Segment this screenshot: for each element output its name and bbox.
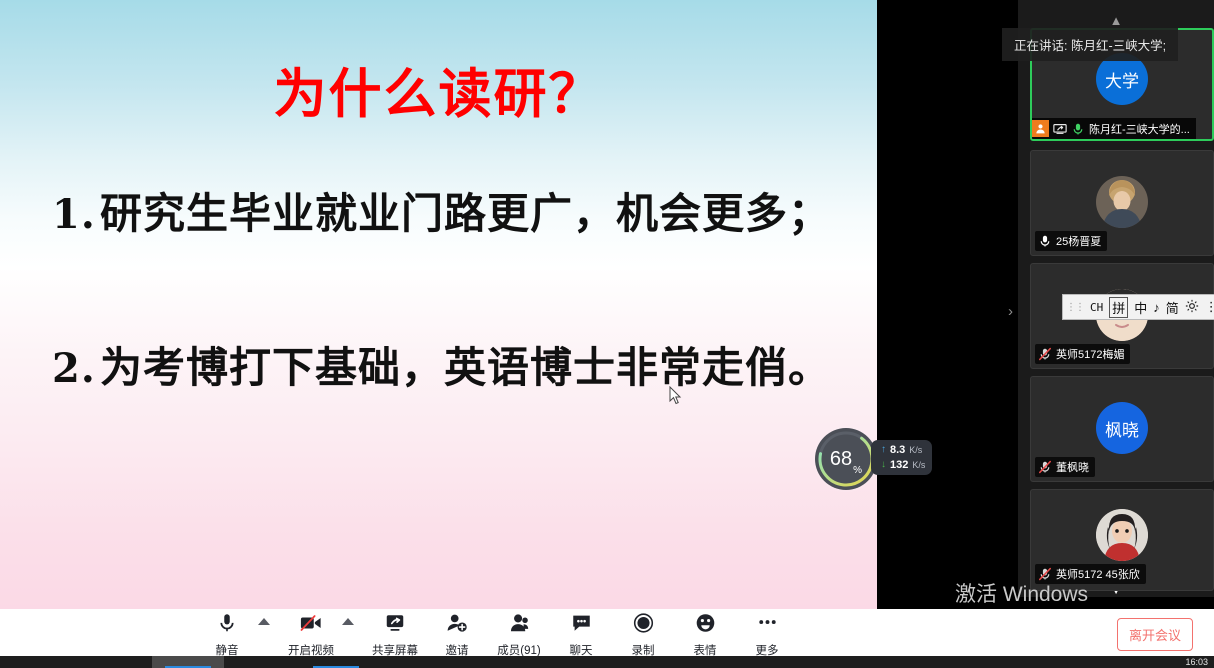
microphone-icon — [1038, 234, 1052, 248]
ime-overflow-icon[interactable]: ⋮ — [1205, 299, 1214, 315]
taskbar-app-2[interactable] — [300, 656, 372, 668]
download-arrow-icon: ↓ — [881, 460, 886, 470]
taskbar-clock[interactable]: 16:03 — [1185, 657, 1208, 667]
upload-unit: K/s — [909, 445, 922, 455]
ime-drag-handle[interactable]: ⋮⋮ — [1066, 302, 1084, 313]
avatar: 枫晓 — [1096, 402, 1148, 454]
share-screen-icon — [383, 612, 407, 639]
network-upload-row: ↑ 8.3 K/s — [881, 444, 925, 456]
microphone-muted-icon — [1038, 347, 1052, 361]
microphone-muted-icon — [1038, 567, 1052, 581]
network-gauge: 68% — [815, 428, 877, 490]
slide-bullet-1: 1.研究生毕业就业门路更广，机会更多； — [52, 180, 847, 241]
slide-bullet-1-number: 1. — [52, 191, 100, 238]
meeting-toolbar-items: 静音 开启视频 共享屏幕 — [196, 607, 798, 658]
ime-tone-icon[interactable]: ♪ — [1153, 300, 1160, 315]
collapse-sidebar-chevron-icon[interactable]: › — [1008, 303, 1013, 320]
network-rates: ↑ 8.3 K/s ↓ 132 K/s — [871, 440, 932, 475]
slide-title: 为什么读研？ — [0, 52, 877, 128]
participant-badge: 英师5172梅媚 — [1035, 344, 1130, 364]
chat-icon — [570, 612, 593, 639]
network-download-row: ↓ 132 K/s — [881, 459, 925, 471]
slide-bullet-1-text: 研究生毕业就业门路更广，机会更多； — [100, 189, 831, 238]
participants-icon — [507, 612, 531, 639]
avatar-photo — [1096, 176, 1148, 228]
leave-meeting-button[interactable]: 离开会议 — [1117, 618, 1193, 651]
participant-badge: 董枫晓 — [1035, 457, 1095, 477]
ime-simplified-toggle[interactable]: 简 — [1166, 298, 1179, 317]
chat-button[interactable]: 聊天 — [550, 607, 612, 658]
record-button[interactable]: 录制 — [612, 607, 674, 658]
avatar — [1096, 176, 1148, 228]
participant-badge: 英师5172 45张欣 — [1035, 564, 1146, 584]
slide-bullet-2: 2.为考博打下基础，英语博士非常走俏。 — [52, 334, 847, 395]
network-percent-value: 68 — [830, 448, 852, 471]
speaking-tooltip: 正在讲话: 陈月红-三峡大学; — [1002, 28, 1178, 61]
microphone-muted-icon — [1038, 460, 1052, 474]
video-options-caret[interactable] — [342, 607, 364, 625]
sidebar-scroll-up-icon[interactable]: ▲ — [1018, 12, 1214, 28]
host-icon — [1032, 120, 1049, 137]
emoji-button[interactable]: 表情 — [674, 607, 736, 658]
download-value: 132 — [890, 459, 908, 471]
participant-badge: 25杨晋夏 — [1035, 231, 1107, 251]
invite-button[interactable]: 邀请 — [426, 607, 488, 658]
participant-name: 英师5172 45张欣 — [1056, 566, 1140, 582]
participant-name: 董枫晓 — [1056, 459, 1089, 475]
mute-options-caret[interactable] — [258, 607, 280, 625]
gear-icon[interactable] — [1185, 299, 1199, 316]
share-screen-button[interactable]: 共享屏幕 — [364, 607, 426, 658]
windows-taskbar: 16:03 — [0, 656, 1214, 668]
screen-root: 为什么读研？ 1.研究生毕业就业门路更广，机会更多； 2.为考博打下基础，英语博… — [0, 0, 1214, 668]
chevron-up-icon — [258, 618, 270, 625]
network-percent: 68% — [815, 428, 877, 490]
participant-tile-3[interactable]: 枫晓 董枫晓 — [1030, 376, 1214, 482]
upload-value: 8.3 — [890, 444, 905, 456]
chevron-up-icon — [342, 618, 354, 625]
emoji-icon — [694, 612, 717, 639]
microphone-icon — [1071, 122, 1085, 136]
participant-badge: 陈月红-三峡大学的... — [1032, 118, 1196, 139]
avatar-initials: 枫晓 — [1105, 415, 1139, 440]
avatar-photo — [1096, 509, 1148, 561]
upload-arrow-icon: ↑ — [881, 445, 886, 455]
more-button[interactable]: 更多 — [736, 607, 798, 658]
participant-name: 25杨晋夏 — [1056, 233, 1101, 249]
ime-chinese-toggle[interactable]: 中 — [1134, 298, 1147, 317]
download-unit: K/s — [912, 460, 925, 470]
taskbar-app-1[interactable] — [152, 656, 224, 668]
avatar — [1096, 509, 1148, 561]
more-icon — [756, 612, 779, 639]
mute-button[interactable]: 静音 — [196, 607, 258, 658]
shared-screen-slide[interactable]: 为什么读研？ 1.研究生毕业就业门路更广，机会更多； 2.为考博打下基础，英语博… — [0, 0, 877, 609]
ime-input-mode[interactable]: 拼 — [1109, 297, 1128, 318]
invite-user-icon — [445, 612, 469, 639]
ime-floating-toolbar[interactable]: ⋮⋮ CH 拼 中 ♪ 简 ⋮ — [1062, 294, 1214, 320]
record-icon — [632, 612, 655, 639]
participants-button[interactable]: 成员(91) — [488, 607, 550, 658]
start-video-button[interactable]: 开启视频 — [280, 607, 342, 658]
ime-language-label[interactable]: CH — [1090, 301, 1103, 314]
video-off-icon — [299, 612, 323, 639]
screen-share-icon — [1053, 122, 1067, 136]
participant-name: 英师5172梅媚 — [1056, 346, 1124, 362]
microphone-icon — [216, 612, 238, 639]
network-speed-widget[interactable]: 68% ↑ 8.3 K/s ↓ 132 K/s — [815, 428, 935, 493]
participant-tile-4[interactable]: 英师5172 45张欣 — [1030, 489, 1214, 591]
participant-tile-1[interactable]: 25杨晋夏 — [1030, 150, 1214, 256]
avatar-initials: 大学 — [1105, 67, 1139, 92]
meeting-toolbar: 静音 开启视频 共享屏幕 — [0, 609, 1214, 656]
slide-bullet-2-number: 2. — [52, 345, 100, 392]
participant-name: 陈月红-三峡大学的... — [1089, 121, 1190, 137]
slide-bullet-2-text: 为考博打下基础，英语博士非常走俏。 — [100, 343, 831, 392]
network-percent-sign: % — [853, 465, 862, 476]
